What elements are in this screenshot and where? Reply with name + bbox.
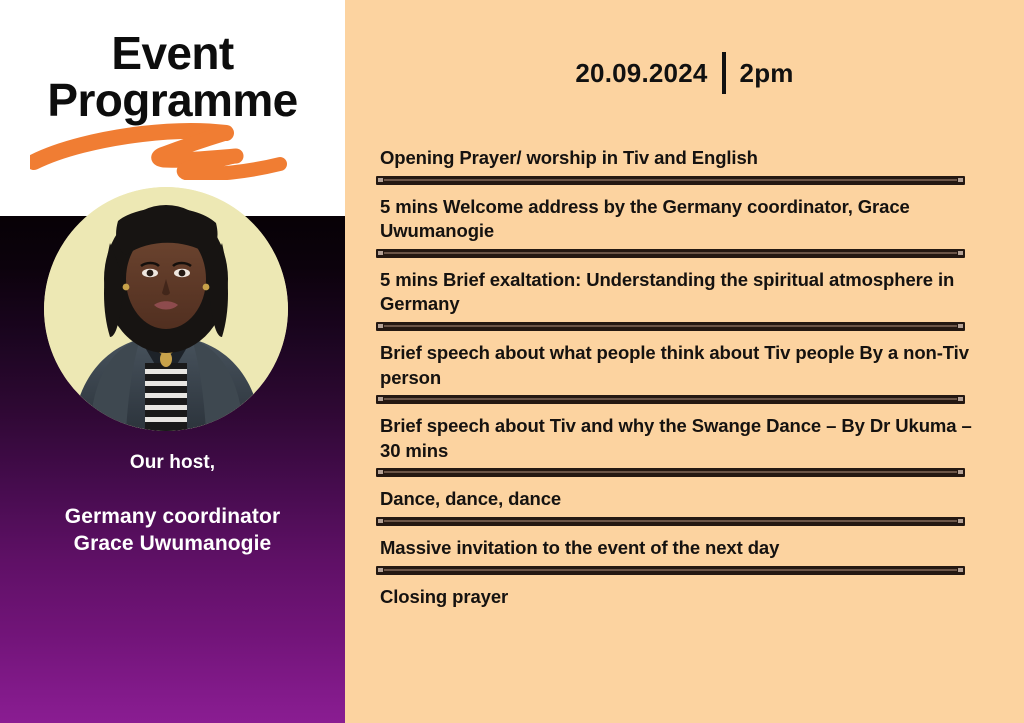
- agenda-separator: [376, 176, 965, 185]
- list-item: 5 mins Welcome address by the Germany co…: [376, 192, 996, 258]
- agenda-separator: [376, 249, 965, 258]
- agenda-item-text: Closing prayer: [376, 582, 996, 615]
- right-panel: 20.09.2024 2pm Opening Prayer/ worship i…: [345, 0, 1024, 723]
- title-line-programme: Programme: [0, 77, 345, 124]
- agenda-item-text: Brief speech about what people think abo…: [376, 338, 996, 395]
- agenda-item-text: Dance, dance, dance: [376, 484, 996, 517]
- agenda-item-text: 5 mins Brief exaltation: Understanding t…: [376, 265, 996, 322]
- agenda-item-text: 5 mins Welcome address by the Germany co…: [376, 192, 996, 249]
- host-person-line: Grace Uwumanogie: [0, 531, 345, 558]
- agenda-separator: [376, 566, 965, 575]
- list-item: Opening Prayer/ worship in Tiv and Engli…: [376, 143, 996, 185]
- title-line-event: Event: [0, 30, 345, 77]
- list-item: Brief speech about what people think abo…: [376, 338, 996, 404]
- event-datetime-header: 20.09.2024 2pm: [345, 52, 1024, 94]
- agenda-separator: [376, 322, 965, 331]
- list-item: Dance, dance, dance: [376, 484, 996, 526]
- agenda-item-text: Brief speech about Tiv and why the Swang…: [376, 411, 996, 468]
- agenda-list: Opening Prayer/ worship in Tiv and Engli…: [376, 143, 996, 614]
- agenda-item-text: Opening Prayer/ worship in Tiv and Engli…: [376, 143, 996, 176]
- agenda-separator: [376, 395, 965, 404]
- agenda-item-text: Massive invitation to the event of the n…: [376, 533, 996, 566]
- list-item: Massive invitation to the event of the n…: [376, 533, 996, 575]
- event-time: 2pm: [726, 58, 794, 89]
- host-credit-block: Our host, Germany coordinator Grace Uwum…: [0, 452, 345, 558]
- host-role-line: Germany coordinator: [0, 504, 345, 531]
- event-programme-poster: Event Programme: [0, 0, 1024, 723]
- host-portrait-photo: [44, 187, 288, 431]
- event-date: 20.09.2024: [575, 58, 721, 89]
- agenda-separator: [376, 517, 965, 526]
- list-item: Brief speech about Tiv and why the Swang…: [376, 411, 996, 477]
- poster-title: Event Programme: [0, 30, 345, 124]
- host-label: Our host,: [0, 452, 345, 474]
- host-name: Germany coordinator Grace Uwumanogie: [0, 504, 345, 558]
- list-item: Closing prayer: [376, 582, 996, 615]
- list-item: 5 mins Brief exaltation: Understanding t…: [376, 265, 996, 331]
- agenda-separator: [376, 468, 965, 477]
